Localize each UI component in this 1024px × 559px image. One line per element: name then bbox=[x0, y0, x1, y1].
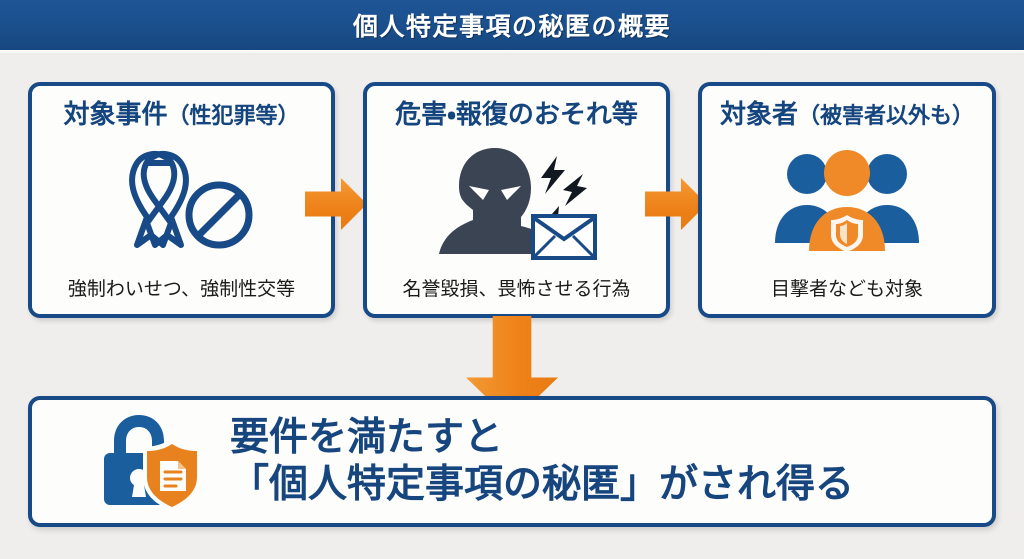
header-divider bbox=[0, 50, 1024, 55]
card-title-target-case: 対象事件（性犯罪等） bbox=[63, 100, 299, 129]
card-icon-wrap bbox=[32, 129, 331, 274]
card-icon-wrap bbox=[367, 129, 666, 274]
card-title-sub: （被害者以外も） bbox=[798, 103, 974, 128]
masked-threat-envelope-icon bbox=[433, 142, 601, 260]
card-title-sub: （性犯罪等） bbox=[168, 103, 300, 128]
card-title-harm-retaliation: 危害・報復のおそれ等 bbox=[395, 100, 638, 129]
ribbon-prohibition-icon bbox=[107, 145, 257, 257]
people-group-shield-icon bbox=[771, 147, 923, 255]
banner-icon-wrap bbox=[94, 411, 206, 513]
infographic-root: 個人特定事項の秘匿の概要 対象事件（性犯罪等） 強制わいせつ、強制性交等 bbox=[0, 0, 1024, 559]
banner-line-1: 要件を満たすと bbox=[230, 415, 854, 461]
card-caption-target-persons: 目撃者なども対象 bbox=[771, 274, 923, 301]
page-title: 個人特定事項の秘匿の概要 bbox=[353, 7, 671, 43]
banner-line-2: 「個人特定事項の秘匿」がされ得る bbox=[230, 462, 854, 508]
banner-text: 要件を満たすと 「個人特定事項の秘匿」がされ得る bbox=[230, 415, 854, 507]
card-icon-wrap bbox=[702, 129, 992, 274]
card-target-persons: 対象者（被害者以外も） 目撃者なども対象 bbox=[698, 82, 996, 318]
card-harm-retaliation: 危害・報復のおそれ等 名誉毀損、畏怖させる行為 bbox=[363, 82, 670, 318]
card-caption-harm-retaliation: 名誉毀損、畏怖させる行為 bbox=[402, 274, 630, 301]
header-band: 個人特定事項の秘匿の概要 bbox=[0, 0, 1024, 50]
card-target-case: 対象事件（性犯罪等） 強制わいせつ、強制性交等 bbox=[28, 82, 335, 318]
result-banner: 要件を満たすと 「個人特定事項の秘匿」がされ得る bbox=[28, 396, 996, 527]
padlock-shield-document-icon bbox=[94, 411, 206, 513]
card-title-target-persons: 対象者（被害者以外も） bbox=[720, 100, 974, 129]
card-caption-target-case: 強制わいせつ、強制性交等 bbox=[68, 274, 295, 301]
card-title-main: 対象者 bbox=[720, 99, 798, 129]
card-title-main: 対象事件 bbox=[63, 99, 167, 129]
card-title-main: 危害・報復のおそれ等 bbox=[395, 99, 638, 129]
